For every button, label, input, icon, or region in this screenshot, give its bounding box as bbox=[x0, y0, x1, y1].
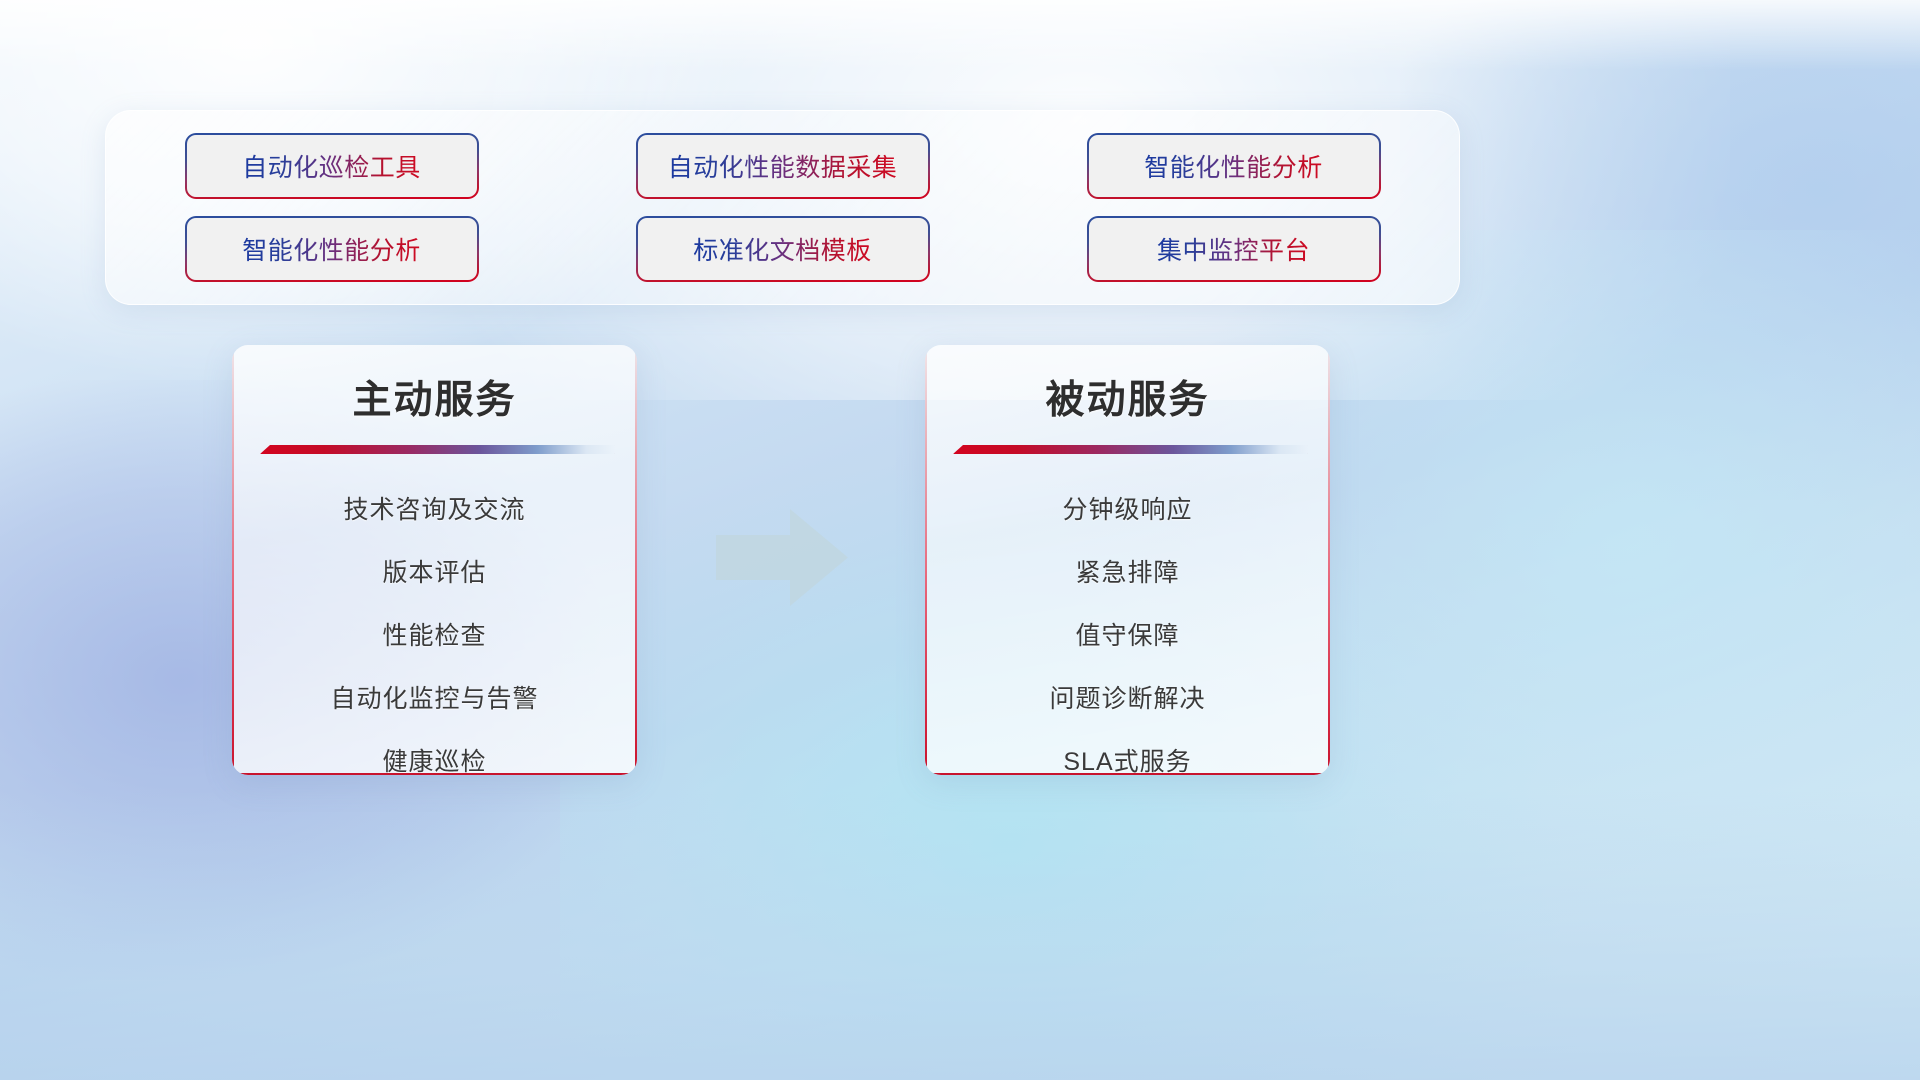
card-divider bbox=[953, 445, 1308, 454]
card-right-edge bbox=[1328, 345, 1330, 775]
capability-chip-standardized-document-template[interactable]: 标准化文档模板 bbox=[638, 218, 928, 280]
capability-chip-label: 集中监控平台 bbox=[1157, 231, 1310, 267]
capability-row-1: 自动化巡检工具 自动化性能数据采集 智能化性能分析 bbox=[106, 130, 1459, 202]
capability-chip-label: 自动化性能数据采集 bbox=[668, 148, 898, 184]
flow-arrow-right-icon bbox=[712, 505, 852, 610]
service-list-item[interactable]: 值守保障 bbox=[1075, 614, 1179, 659]
card-divider bbox=[260, 445, 615, 454]
service-card-passive: 被动服务 分钟级响应 紧急排障 值守保障 问题诊断解决 SLA式服务 bbox=[925, 345, 1330, 775]
capability-chip-label: 智能化性能分析 bbox=[1144, 148, 1323, 184]
card-left-edge bbox=[232, 345, 234, 775]
capability-panel: 自动化巡检工具 自动化性能数据采集 智能化性能分析 智能化性能分析 标准化文档模… bbox=[105, 110, 1460, 305]
service-list-item[interactable]: 分钟级响应 bbox=[1062, 488, 1192, 533]
service-item-list: 分钟级响应 紧急排障 值守保障 问题诊断解决 SLA式服务 bbox=[925, 488, 1330, 775]
card-divider-bar bbox=[953, 445, 1308, 454]
service-list-item[interactable]: 问题诊断解决 bbox=[1049, 677, 1205, 722]
background-top-highlight bbox=[0, 0, 1920, 70]
card-divider-bar bbox=[260, 445, 615, 454]
card-left-edge bbox=[925, 345, 927, 775]
service-list-item[interactable]: 技术咨询及交流 bbox=[343, 488, 525, 533]
service-item-list: 技术咨询及交流 版本评估 性能检查 自动化监控与告警 健康巡检 bbox=[232, 488, 637, 775]
card-bottom-edge bbox=[232, 773, 637, 775]
service-card-active: 主动服务 技术咨询及交流 版本评估 性能检查 自动化监控与告警 健康巡检 bbox=[232, 345, 637, 775]
capability-chip-intelligent-performance-analysis-top[interactable]: 智能化性能分析 bbox=[1089, 135, 1379, 197]
capability-chip-label: 自动化巡检工具 bbox=[242, 148, 421, 184]
card-bottom-edge bbox=[925, 773, 1330, 775]
capability-row-2: 智能化性能分析 标准化文档模板 集中监控平台 bbox=[106, 213, 1459, 285]
service-list-item[interactable]: 版本评估 bbox=[382, 551, 486, 596]
capability-chip-label: 智能化性能分析 bbox=[242, 231, 421, 267]
capability-chip-label: 标准化文档模板 bbox=[693, 231, 872, 267]
capability-chip-automated-performance-data-collection[interactable]: 自动化性能数据采集 bbox=[638, 135, 928, 197]
service-list-item[interactable]: SLA式服务 bbox=[1063, 740, 1191, 775]
card-title: 主动服务 bbox=[232, 369, 637, 425]
card-title: 被动服务 bbox=[925, 369, 1330, 425]
card-right-edge bbox=[635, 345, 637, 775]
background-bottom-shade bbox=[0, 790, 1920, 1080]
capability-chip-intelligent-performance-analysis[interactable]: 智能化性能分析 bbox=[187, 218, 477, 280]
service-list-item[interactable]: 紧急排障 bbox=[1075, 551, 1179, 596]
service-list-item[interactable]: 自动化监控与告警 bbox=[330, 677, 538, 722]
capability-chip-centralized-monitoring-platform[interactable]: 集中监控平台 bbox=[1089, 218, 1379, 280]
service-list-item[interactable]: 健康巡检 bbox=[382, 740, 486, 775]
capability-chip-automated-inspection-tool[interactable]: 自动化巡检工具 bbox=[187, 135, 477, 197]
service-list-item[interactable]: 性能检查 bbox=[382, 614, 486, 659]
